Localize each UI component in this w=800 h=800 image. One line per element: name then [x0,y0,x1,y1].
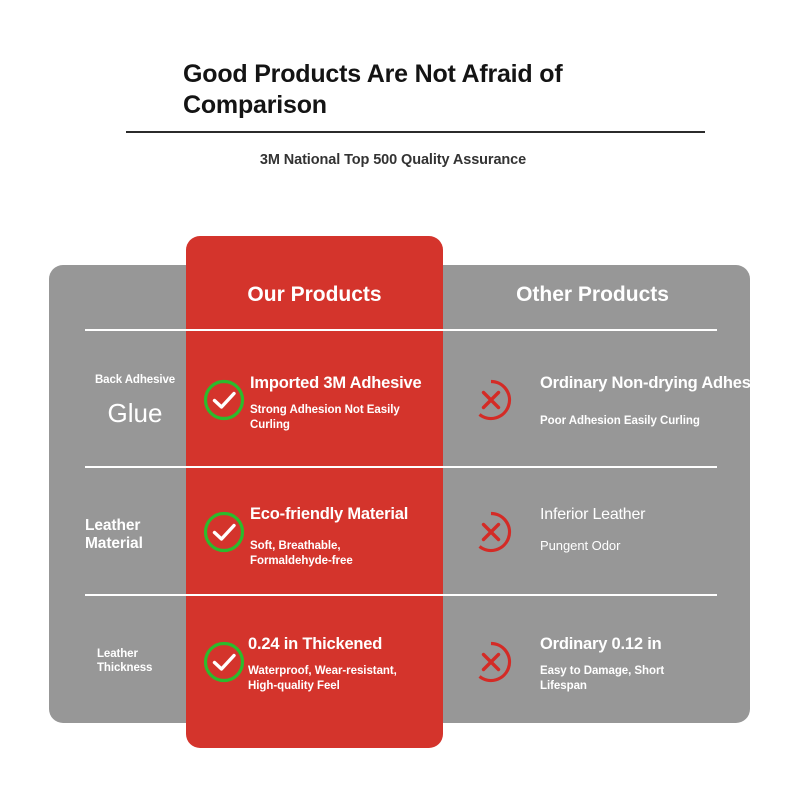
check-circle-icon [202,378,246,422]
row-label-glue: Back Adhesive Glue [85,374,185,427]
our-cell-sub: Waterproof, Wear-resistant, High-quality… [248,664,423,694]
our-cell-sub: Strong Adhesion Not Easily Curling [250,403,408,433]
row-divider-3 [85,594,717,596]
other-cell-leather-material: Inferior Leather Pungent Odor [540,505,750,555]
row-label-text: Leather Thickness [97,647,192,675]
x-circle-icon [469,640,513,684]
row-label-small: Back Adhesive [85,374,185,388]
row-divider-1 [85,329,717,331]
our-cell-main: Eco-friendly Material [250,505,440,525]
other-cell-glue-clip: Ordinary Non-drying Adhesive Poor Adhesi… [455,360,750,460]
other-cell-main: Ordinary Non-drying Adhesive [540,374,750,394]
check-circle-icon [202,510,246,554]
row-label-large: Glue [85,399,185,428]
row-label-leather-thickness: Leather Thickness [97,647,192,675]
title-divider [126,131,705,133]
our-cell-sub: Soft, Breathable, Formaldehyde-free [250,539,400,569]
other-cell-leather-thickness-clip: Ordinary 0.12 in Easy to Damage, Short L… [455,622,750,717]
row-label-text: Leather Material [85,517,185,553]
table-row: Leather Material Eco-friendly Material S… [0,495,800,590]
our-cell-main: 0.24 in Thickened [248,635,443,655]
our-cell-leather-thickness: 0.24 in Thickened Waterproof, Wear-resis… [248,635,443,694]
row-label-leather-material: Leather Material [85,517,185,553]
other-cell-glue: Ordinary Non-drying Adhesive Poor Adhesi… [540,374,750,429]
our-cell-glue: Imported 3M Adhesive Strong Adhesion Not… [250,374,440,433]
other-cell-sub: Pungent Odor [540,538,750,555]
other-cell-sub: Easy to Damage, Short Lifespan [540,664,680,694]
other-cell-main: Ordinary 0.12 in [540,635,715,655]
other-cell-leather-material-clip: Inferior Leather Pungent Odor [455,495,750,590]
our-cell-leather-material: Eco-friendly Material Soft, Breathable, … [250,505,440,569]
table-row: Leather Thickness 0.24 in Thickened Wate… [0,622,800,717]
table-row: Back Adhesive Glue Imported 3M Adhesive … [0,360,800,460]
row-divider-2 [85,466,717,468]
comparison-infographic: Good Products Are Not Afraid of Comparis… [0,0,800,800]
other-cell-leather-thickness: Ordinary 0.12 in Easy to Damage, Short L… [540,635,715,694]
column-header-other-products: Other Products [455,283,730,307]
other-cell-main: Inferior Leather [540,505,750,524]
column-header-our-products: Our Products [186,283,443,307]
page-title: Good Products Are Not Afraid of Comparis… [183,59,603,120]
check-circle-icon [202,640,246,684]
other-cell-sub: Poor Adhesion Easily Curling [540,414,750,429]
our-cell-main: Imported 3M Adhesive [250,374,440,394]
page-subtitle: 3M National Top 500 Quality Assurance [126,152,660,168]
x-circle-icon [469,510,513,554]
x-circle-icon [469,378,513,422]
